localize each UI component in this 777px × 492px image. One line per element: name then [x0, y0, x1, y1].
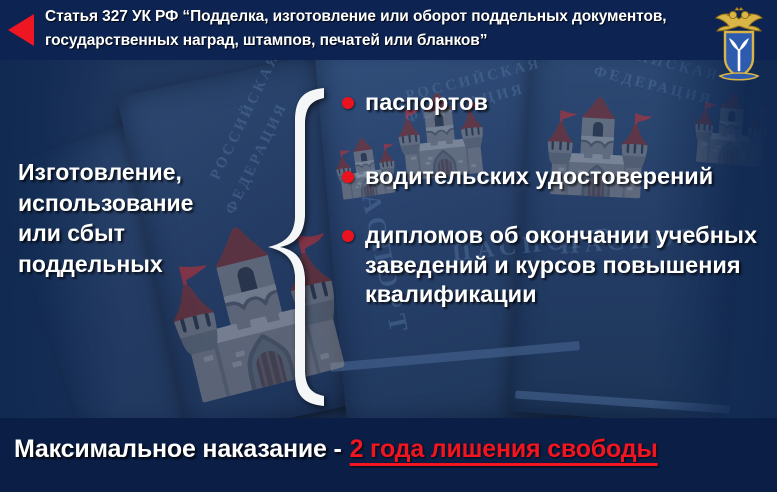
lead-line-2: использование: [18, 188, 250, 219]
list-item-label: паспортов: [365, 88, 488, 118]
slide-root: РОССИЙСКАЯ ФЕДЕРАЦИЯ РОССИЙСКАЯ ФЕДЕРАЦИ…: [0, 0, 777, 492]
penalty-label: Максимальное наказание -: [14, 435, 342, 463]
lead-statement: Изготовление, использование или сбыт под…: [18, 157, 250, 279]
penalty-value: 2 года лишения свободы: [350, 435, 658, 463]
page-title-line1: Статья 327 УК РФ “Подделка, изготовление…: [45, 8, 568, 25]
offence-list: паспортов водительских удостоверений дип…: [342, 88, 772, 334]
list-item: дипломов об окончании учебных заведений …: [342, 221, 772, 310]
list-item-label: дипломов об окончании учебных заведений …: [365, 221, 772, 310]
list-item: водительских удостоверений: [342, 162, 772, 192]
red-dot-bullet: [342, 97, 354, 109]
lead-line-4: поддельных: [18, 249, 250, 280]
list-item-label: водительских удостоверений: [365, 162, 713, 192]
red-dot-bullet: [342, 230, 354, 242]
left-triangle-icon: [8, 14, 34, 46]
list-item: паспортов: [342, 88, 772, 118]
double-headed-eagle-shield-emblem: [711, 6, 767, 84]
header-bar: Статья 327 УК РФ “Подделка, изготовление…: [0, 0, 777, 60]
lead-line-3: или сбыт: [18, 218, 250, 249]
lead-line-1: Изготовление,: [18, 157, 250, 188]
red-dot-bullet: [342, 171, 354, 183]
page-title: Статья 327 УК РФ “Подделка, изготовление…: [45, 5, 700, 52]
curly-brace-icon: [252, 82, 332, 412]
penalty-statement: Максимальное наказание -2 года лишения с…: [14, 435, 658, 464]
footer-bar: Максимальное наказание -2 года лишения с…: [0, 418, 777, 492]
